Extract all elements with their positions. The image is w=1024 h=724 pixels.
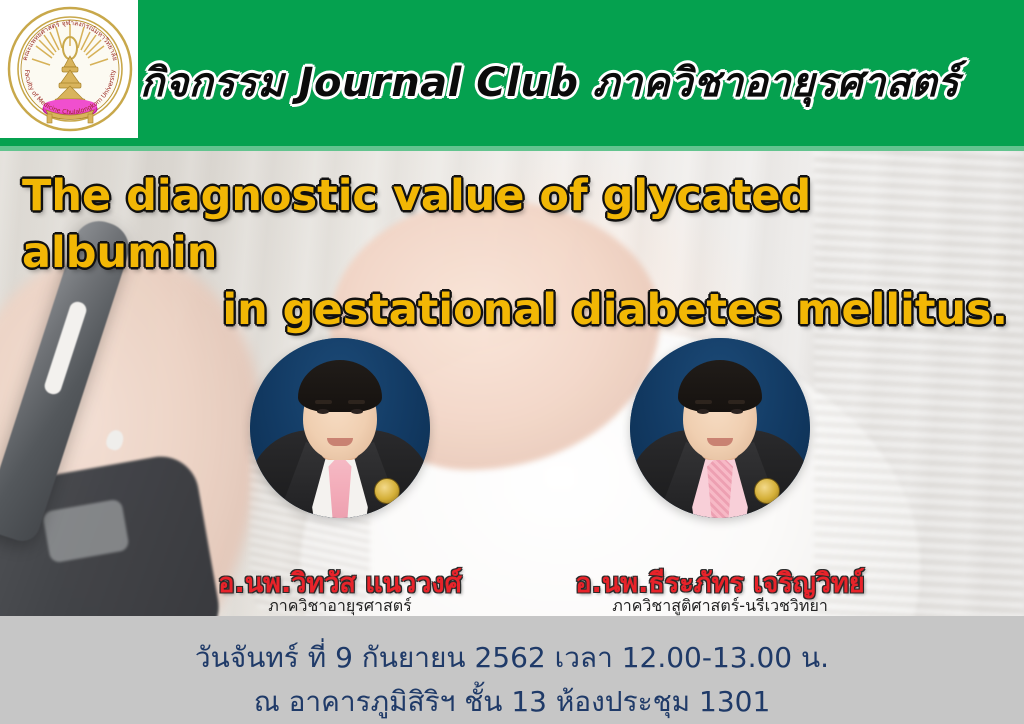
eye-right: [731, 409, 743, 414]
page-title-line-1: The diagnostic value of glycated albumin: [14, 168, 1014, 282]
necktie: [329, 454, 352, 518]
eye-left: [697, 409, 709, 414]
page-title-line-2: in gestational diabetes mellitus.: [14, 282, 1014, 339]
event-datetime: วันจันทร์ ที่ 9 กันยายน 2562 เวลา 12.00-…: [0, 636, 1024, 680]
mouth: [327, 438, 353, 446]
speaker-photo-2: [630, 338, 810, 518]
speaker-photo-1: [250, 338, 430, 518]
necktie: [707, 454, 733, 518]
page-title: The diagnostic value of glycated albumin…: [14, 168, 1014, 338]
eyebrow-right: [728, 400, 745, 404]
mouth: [707, 438, 733, 446]
event-venue: ณ อาคารภูมิสิริฯ ชั้น 13 ห้องประชุม 1301: [0, 680, 1024, 724]
eyebrow-right: [348, 400, 365, 404]
chulalongkorn-faculty-of-medicine-emblem-icon: คณะแพทยศาสตร์ จุฬาลงกรณ์มหาวิทยาลัย Facu…: [6, 4, 134, 134]
eyebrow-left: [695, 400, 712, 404]
eye-right: [351, 409, 363, 414]
header-title: กิจกรรม Journal Club ภาควิชาอายุรศาสตร์: [140, 50, 1024, 114]
header-band-edge: [0, 146, 1024, 151]
logo-plate: คณะแพทยศาสตร์ จุฬาลงกรณ์มหาวิทยาลัย Facu…: [0, 0, 138, 138]
faculty-emblem-pin-icon: [374, 478, 400, 504]
eye-left: [317, 409, 329, 414]
faculty-emblem-pin-icon: [754, 478, 780, 504]
event-poster: คณะแพทยศาสตร์ จุฬาลงกรณ์มหาวิทยาลัย Facu…: [0, 0, 1024, 724]
eyebrow-left: [315, 400, 332, 404]
